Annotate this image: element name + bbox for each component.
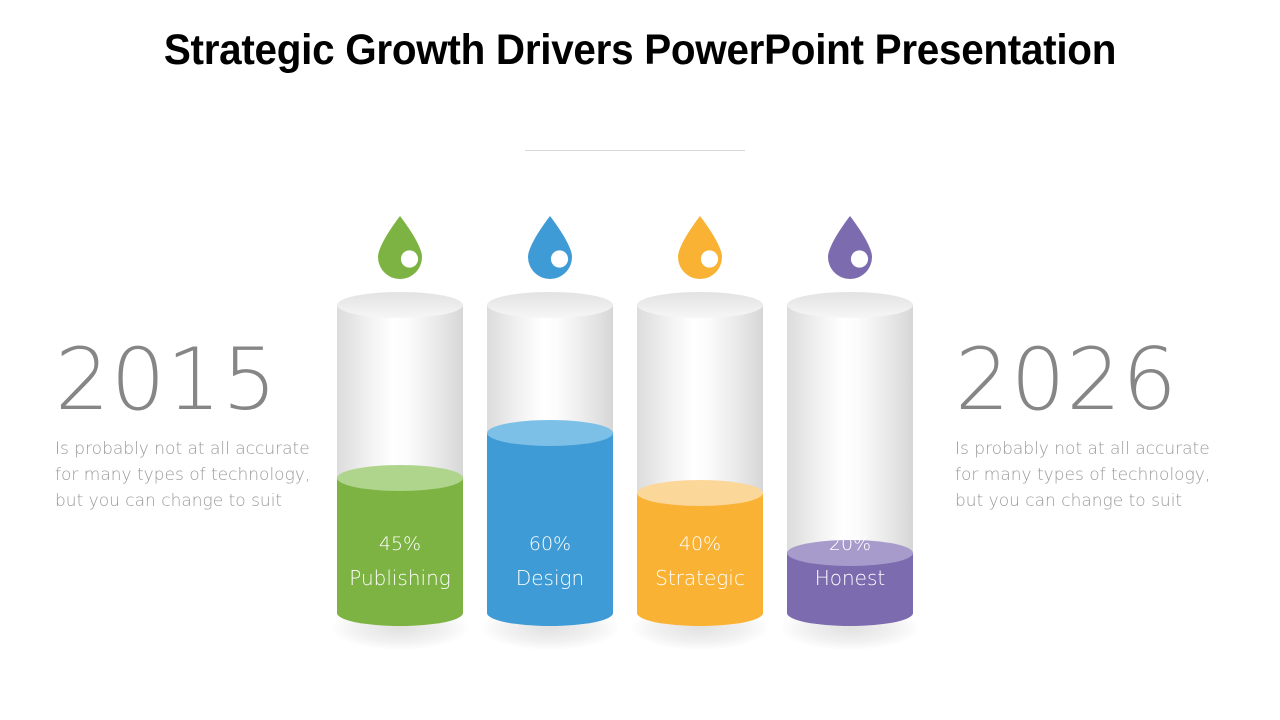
cylinder-tube: 40%Strategic	[637, 292, 763, 626]
liquid-bottom-ellipse	[787, 600, 913, 626]
water-drop-icon	[668, 214, 732, 284]
cylinder-chart: 45%Publishing60%Design40%Strategic20%Hon…	[0, 0, 1280, 720]
liquid-body	[337, 478, 463, 613]
liquid-surface-ellipse	[487, 420, 613, 446]
liquid-surface-ellipse	[637, 480, 763, 506]
liquid-body	[487, 433, 613, 613]
liquid-fill	[487, 420, 613, 626]
cylinder-tube: 45%Publishing	[337, 292, 463, 626]
liquid-fill	[787, 540, 913, 626]
liquid-body	[637, 493, 763, 613]
water-drop-icon	[818, 214, 882, 284]
liquid-surface-ellipse	[787, 540, 913, 566]
liquid-bottom-ellipse	[487, 600, 613, 626]
cylinder-tube: 60%Design	[487, 292, 613, 626]
cylinder-tube: 20%Honest	[787, 292, 913, 626]
glass-top-ellipse	[637, 292, 763, 318]
glass-top-ellipse	[337, 292, 463, 318]
liquid-surface-ellipse	[337, 465, 463, 491]
glass-top-ellipse	[487, 292, 613, 318]
liquid-bottom-ellipse	[337, 600, 463, 626]
water-drop-icon	[368, 214, 432, 284]
glass-top-ellipse	[787, 292, 913, 318]
water-drop-icon	[518, 214, 582, 284]
liquid-bottom-ellipse	[637, 600, 763, 626]
liquid-fill	[637, 480, 763, 626]
liquid-fill	[337, 465, 463, 626]
